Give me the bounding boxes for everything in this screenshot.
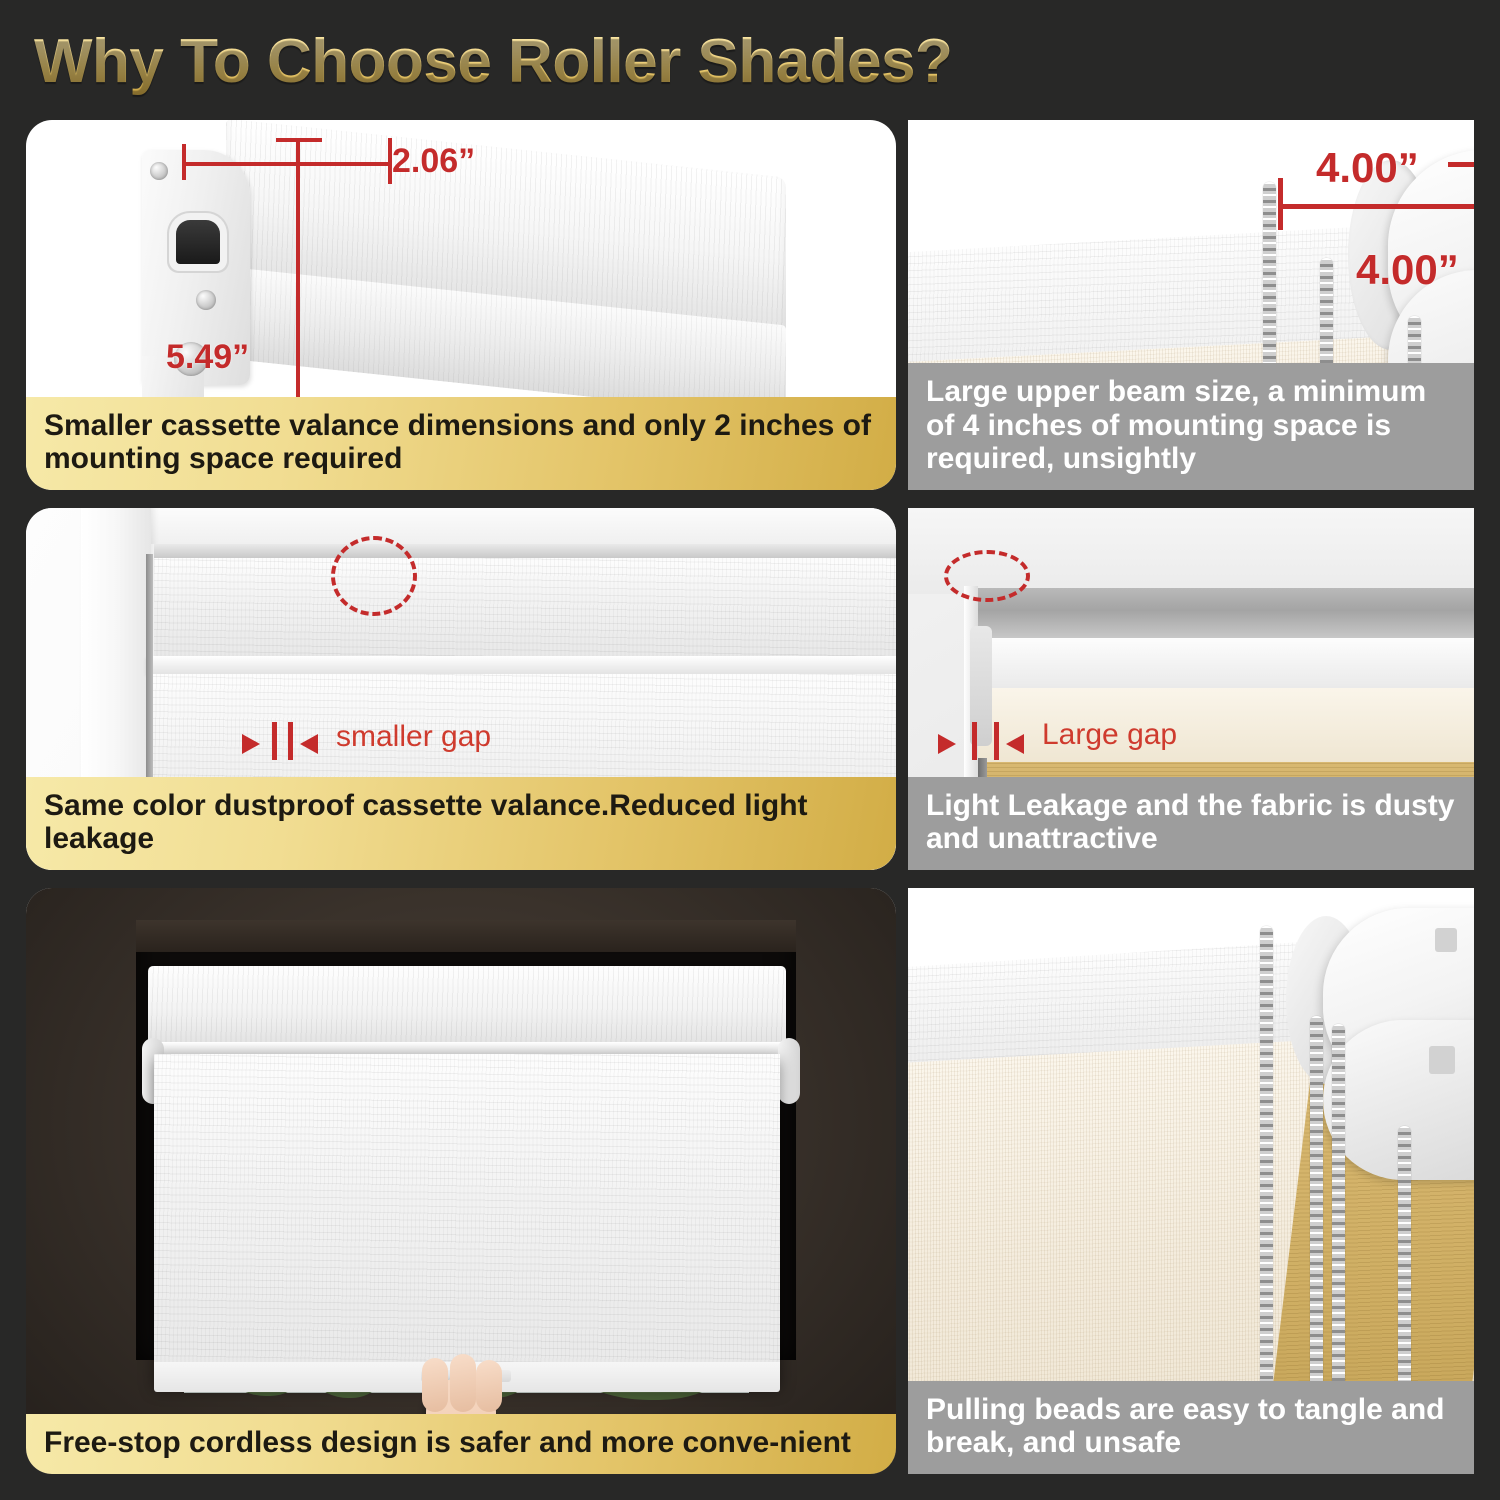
bead-chain xyxy=(1310,1016,1323,1428)
gap-arrow-left-icon xyxy=(300,734,318,754)
bead-chain xyxy=(1260,926,1273,1426)
beam-height-cap-top xyxy=(1448,162,1474,167)
valance-lip xyxy=(146,656,896,674)
panel-large-gap: Large gap Light Leakage and the fabric i… xyxy=(908,508,1474,870)
beam-width-label: 4.00” xyxy=(1316,144,1419,192)
width-dim-tick-left xyxy=(182,144,186,180)
beam-height-label: 4.00” xyxy=(1356,246,1459,294)
highlight-circle-annotation xyxy=(331,536,417,616)
bead-chain xyxy=(1332,1024,1345,1428)
panel-cordless-design: Free-stop cordless design is safer and m… xyxy=(26,888,896,1474)
beam-width-tick-left xyxy=(1278,178,1283,230)
panel-4-caption: Light Leakage and the fabric is dusty an… xyxy=(908,777,1474,870)
screw-icon xyxy=(150,162,168,180)
gap-arrow-left-icon xyxy=(1006,734,1024,754)
panel-1-caption: Smaller cassette valance dimensions and … xyxy=(26,397,896,490)
width-dimension-line xyxy=(182,162,392,166)
cassette-valance xyxy=(148,966,786,1046)
cassette-lip xyxy=(144,1042,790,1054)
gap-marker-line xyxy=(288,722,293,760)
panel-large-beam: 4.00” 4.00” Large upper beam size, a min… xyxy=(908,120,1474,490)
bracket-notch-icon xyxy=(1429,1046,1455,1074)
beam-width-dimension-line xyxy=(1280,204,1474,209)
upper-beam xyxy=(970,588,1474,644)
window-frame-side xyxy=(81,508,151,818)
smaller-gap-label: smaller gap xyxy=(336,720,491,754)
panel-3-caption: Same color dustproof cassette valance.Re… xyxy=(26,777,896,870)
height-dim-cap-top xyxy=(276,138,322,142)
panel-5-artwork xyxy=(26,888,896,1474)
finger xyxy=(422,1358,448,1412)
roller-end-right xyxy=(778,1038,800,1104)
window-lintel xyxy=(136,920,796,952)
gap-marker-line xyxy=(272,722,277,760)
panel-smaller-cassette: 2.06” 5.49” Smaller cassette valance dim… xyxy=(26,120,896,490)
valance-bracket-slot xyxy=(176,220,220,264)
comparison-grid: 2.06” 5.49” Smaller cassette valance dim… xyxy=(0,0,1500,1500)
finger xyxy=(476,1360,502,1412)
cassette-valance xyxy=(154,558,896,658)
gap-marker-line xyxy=(994,722,999,760)
screw-icon xyxy=(196,290,216,310)
cassette-top-edge xyxy=(154,544,896,558)
panel-5-caption: Free-stop cordless design is safer and m… xyxy=(26,1414,896,1474)
panel-2-caption: Large upper beam size, a minimum of 4 in… xyxy=(908,363,1474,490)
panel-smaller-gap: smaller gap Same color dustproof cassett… xyxy=(26,508,896,870)
height-dimension-label: 5.49” xyxy=(166,338,249,377)
panel-6-caption: Pulling beads are easy to tangle and bre… xyxy=(908,1381,1474,1474)
highlight-circle-annotation xyxy=(944,550,1030,602)
shade-fabric xyxy=(154,1054,780,1384)
gap-marker-line xyxy=(972,722,977,760)
large-gap-label: Large gap xyxy=(1042,718,1177,752)
finger xyxy=(450,1354,476,1412)
width-dimension-label: 2.06” xyxy=(392,142,475,181)
infographic-page: Why To Choose Roller Shades? 2.06” xyxy=(0,0,1500,1500)
gap-arrow-right-icon xyxy=(938,734,956,754)
window-frame-top xyxy=(81,508,896,544)
gap-arrow-right-icon xyxy=(242,734,260,754)
bracket-notch-icon xyxy=(1435,928,1457,952)
panel-pulling-beads: Pulling beads are easy to tangle and bre… xyxy=(908,888,1474,1474)
